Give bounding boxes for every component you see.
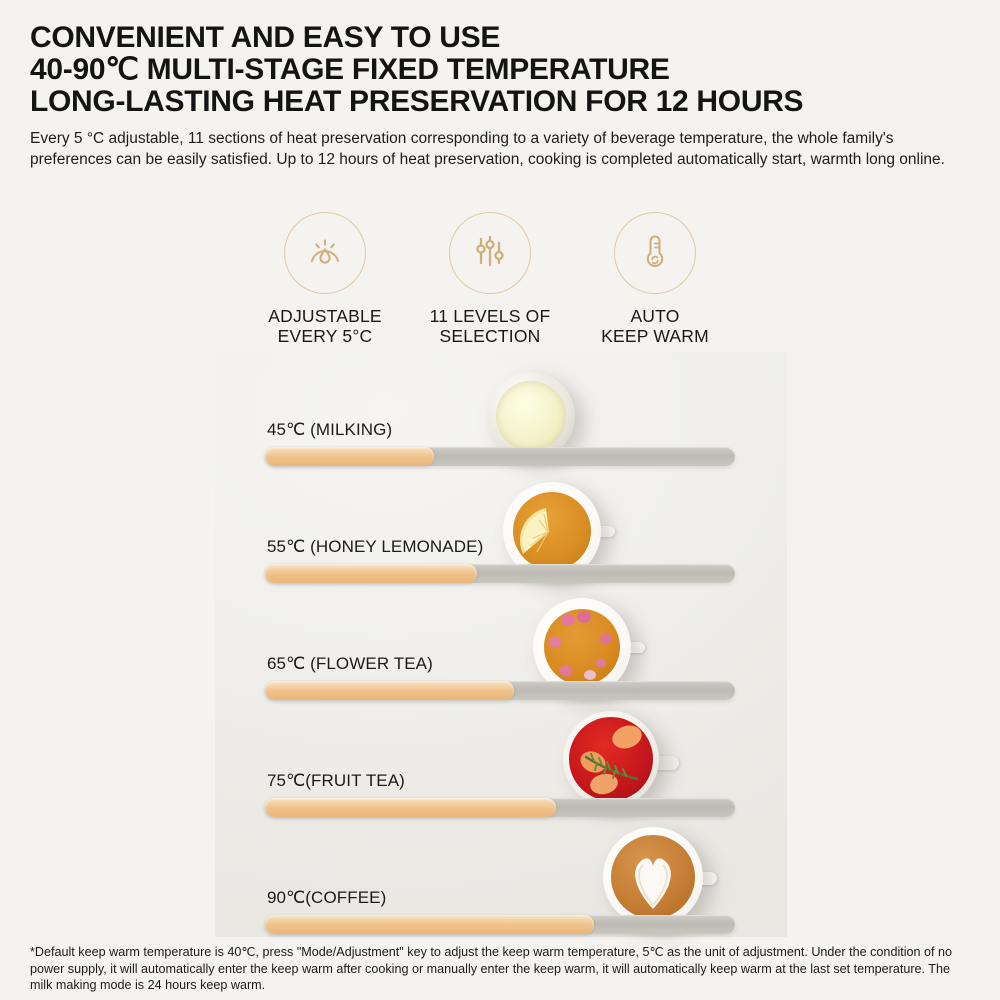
tea-liquid: [513, 492, 591, 570]
slider-fill[interactable]: [265, 915, 594, 934]
feature-adjustable-every-5c: ADJUSTABLE EVERY 5°C: [250, 212, 400, 346]
slider-track[interactable]: [265, 681, 735, 700]
intro-paragraph: Every 5 °C adjustable, 11 sections of he…: [30, 128, 960, 170]
slider-row: 45℃ (MILKING): [215, 352, 787, 469]
slider-track[interactable]: [265, 447, 735, 466]
milk-liquid: [496, 381, 566, 451]
slider-label: 55℃ (HONEY LEMONADE): [267, 537, 483, 557]
slider-label: 45℃ (MILKING): [267, 420, 392, 440]
feature-auto-keep-warm: AUTO KEEP WARM: [580, 212, 730, 346]
slider-row: 75℃(FRUIT TEA): [215, 703, 787, 820]
footnote-text: *Default keep warm temperature is 40℃, p…: [30, 944, 975, 994]
tea-liquid: [544, 609, 620, 685]
feature-label: 11 LEVELS OF SELECTION: [430, 306, 551, 346]
thermometer-icon: [635, 231, 675, 276]
headline-line-2: 40-90℃ MULTI-STAGE FIXED TEMPERATURE: [30, 54, 970, 86]
headline-line-3: LONG-LASTING HEAT PRESERVATION FOR 12 HO…: [30, 86, 970, 118]
slider-row: 65℃ (FLOWER TEA): [215, 586, 787, 703]
slider-track[interactable]: [265, 564, 735, 583]
slider-fill[interactable]: [265, 681, 514, 700]
feature-icon-circle: [614, 212, 696, 294]
slider-label: 90℃(COFFEE): [267, 888, 386, 908]
feature-11-levels-of-selection: 11 LEVELS OF SELECTION: [415, 212, 565, 346]
headline-line-1: CONVENIENT AND EASY TO USE: [30, 22, 970, 54]
slider-fill[interactable]: [265, 564, 477, 583]
gauge-droplet-icon: [304, 230, 346, 277]
slider-track[interactable]: [265, 915, 735, 934]
slider-row: 55℃ (HONEY LEMONADE): [215, 469, 787, 586]
slider-fill[interactable]: [265, 447, 434, 466]
heading-block: CONVENIENT AND EASY TO USE 40-90℃ MULTI-…: [30, 22, 970, 118]
drink-latte-coffee-cup: [603, 827, 703, 927]
latte-liquid: [611, 835, 695, 919]
slider-label: 65℃ (FLOWER TEA): [267, 654, 433, 674]
slider-row: 90℃(COFFEE): [215, 820, 787, 937]
drink-fruit-tea-mug: [563, 711, 659, 807]
feature-icon-circle: [449, 212, 531, 294]
feature-label: ADJUSTABLE EVERY 5°C: [268, 306, 382, 346]
slider-track[interactable]: [265, 798, 735, 817]
feature-label: AUTO KEEP WARM: [601, 306, 709, 346]
temperature-slider-panel: 45℃ (MILKING) 55℃ (HONEY LEMONADE): [215, 352, 787, 937]
sliders-icon: [470, 231, 510, 276]
fruit-tea-liquid: [569, 717, 653, 801]
feature-icon-row: ADJUSTABLE EVERY 5°C 11 LEVELS OF SELECT…: [250, 212, 730, 346]
feature-icon-circle: [284, 212, 366, 294]
slider-label: 75℃(FRUIT TEA): [267, 771, 405, 791]
slider-fill[interactable]: [265, 798, 556, 817]
